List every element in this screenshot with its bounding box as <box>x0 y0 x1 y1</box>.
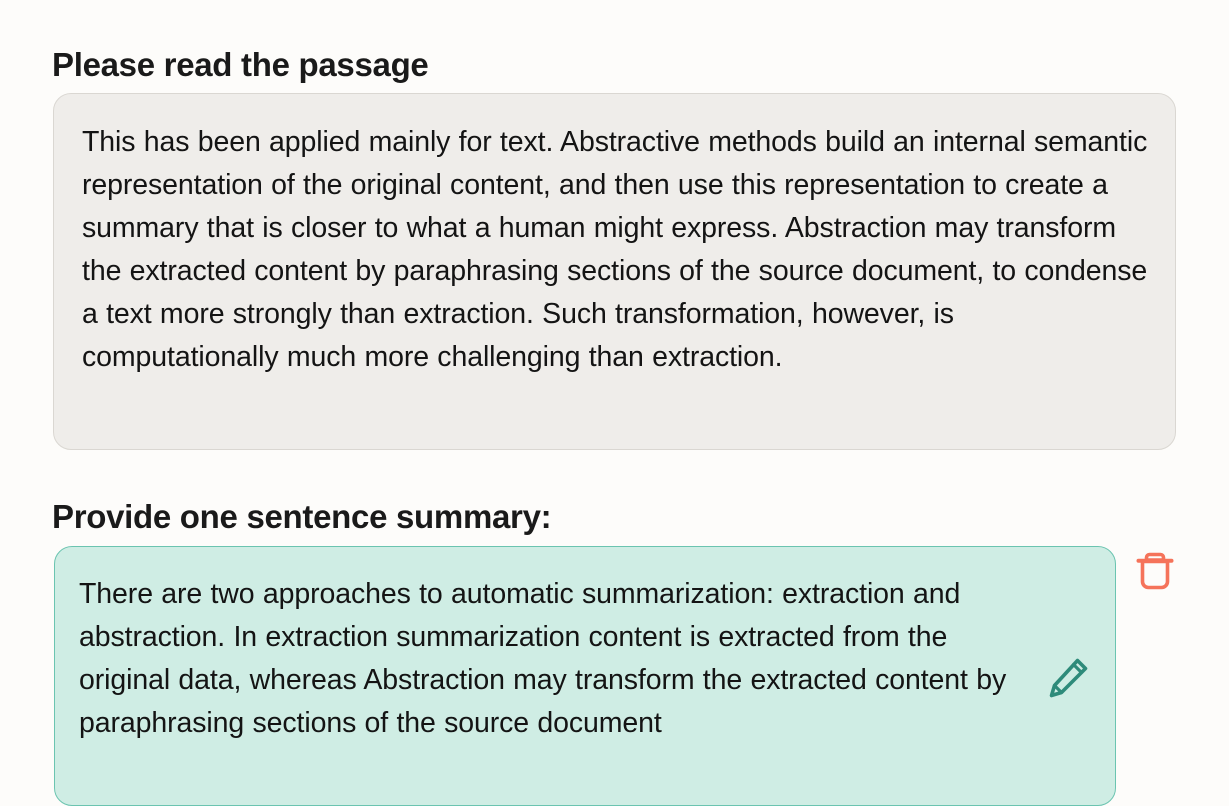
summary-text[interactable]: There are two approaches to automatic su… <box>79 573 1029 745</box>
edit-summary-button[interactable] <box>1046 654 1092 702</box>
summary-input-card[interactable]: There are two approaches to automatic su… <box>54 546 1116 806</box>
delete-summary-button[interactable] <box>1135 548 1175 592</box>
passage-card: This has been applied mainly for text. A… <box>53 93 1176 450</box>
passage-text: This has been applied mainly for text. A… <box>82 121 1149 379</box>
page-root: Please read the passage This has been ap… <box>0 0 1229 756</box>
page-title-passage: Please read the passage <box>52 45 428 85</box>
pencil-icon <box>1046 654 1092 702</box>
page-title-summary: Provide one sentence summary: <box>52 497 551 537</box>
trash-icon <box>1135 548 1175 592</box>
